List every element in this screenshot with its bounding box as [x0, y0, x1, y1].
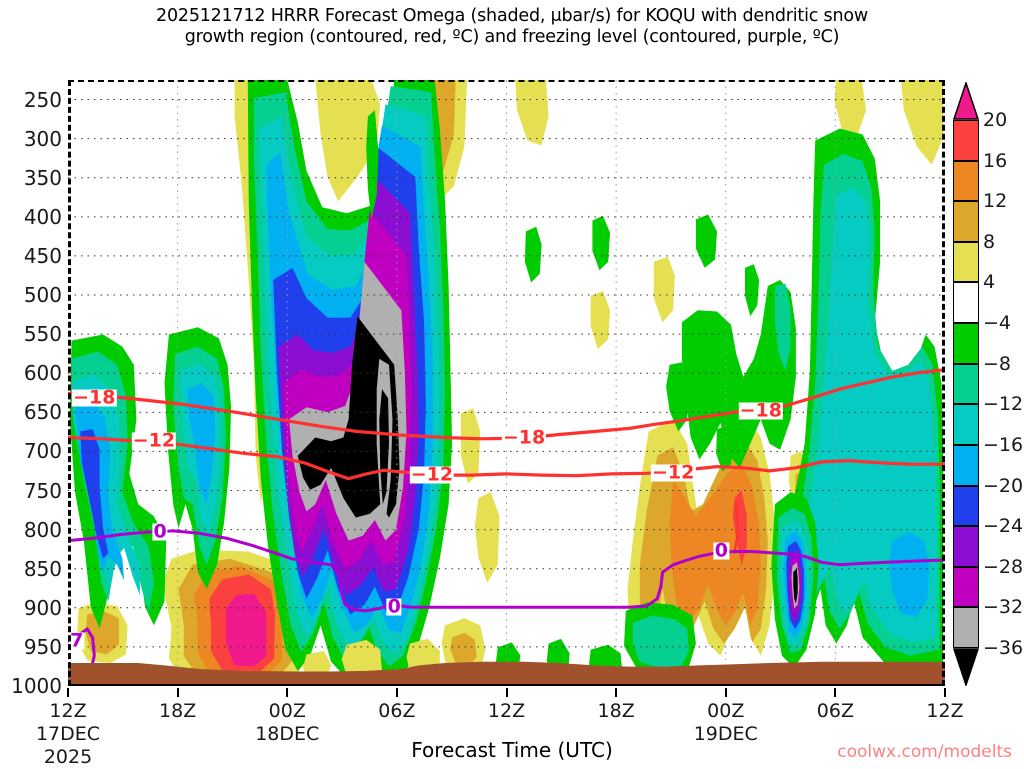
x-axis-tick-label: 12Z	[488, 700, 525, 723]
chart-title-line-2: growth region (contoured, red, ºC) and f…	[0, 27, 1024, 48]
colorbar-segment[interactable]	[953, 364, 979, 405]
omega-contour-band	[226, 594, 266, 667]
omega-shaded-field	[68, 80, 945, 686]
y-axis-tick-label: 350	[24, 166, 62, 190]
y-axis-tick-label: 700	[24, 439, 62, 463]
colorbar-tick-label: 12	[983, 190, 1007, 212]
omega-contour-band	[835, 80, 867, 136]
colorbar-under-arrow	[953, 648, 979, 686]
plot-area: −18−12−18−12−18−120007	[68, 80, 945, 686]
colorbar-over-arrow	[953, 82, 979, 120]
colorbar-tick-label: −32	[983, 596, 1023, 618]
y-axis: 2503003504004505005506006507007508008509…	[0, 80, 62, 686]
omega-contour-band	[475, 492, 500, 583]
contour-inline-label: −12	[651, 464, 695, 481]
contour-inline-label: −18	[502, 430, 546, 447]
x-axis-tick-label: 12Z	[926, 700, 963, 723]
contour-inline-label: 0	[714, 543, 729, 560]
colorbar-segment[interactable]	[953, 567, 979, 608]
colorbar-tick-label: −28	[983, 556, 1023, 578]
colorbar-tick-label: −8	[983, 353, 1011, 375]
contour-inline-label: −12	[410, 467, 454, 484]
x-axis-tick-mark	[834, 688, 836, 697]
colorbar-tick-label: −12	[983, 393, 1023, 415]
colorbar-segment[interactable]	[953, 120, 979, 161]
omega-contour-band	[515, 80, 548, 145]
x-axis-tick-mark	[67, 688, 69, 697]
colorbar-segment[interactable]	[953, 201, 979, 242]
x-axis-tick-label: 06Z	[817, 700, 854, 723]
contour-inline-label: 0	[387, 598, 402, 615]
x-axis-tick-mark	[725, 688, 727, 697]
omega-contour-band	[745, 264, 759, 316]
omega-contour-band	[654, 257, 675, 322]
omega-contour-band	[696, 215, 717, 268]
chart-title: 2025121712 HRRR Forecast Omega (shaded, …	[0, 6, 1024, 48]
y-axis-tick-label: 900	[24, 596, 62, 620]
x-axis-tick-label: 18Z	[598, 700, 635, 723]
colorbar-segment[interactable]	[953, 486, 979, 527]
y-axis-tick-label: 800	[24, 518, 62, 542]
x-axis-tick-mark	[286, 688, 288, 697]
colorbar-tick-label: −24	[983, 515, 1023, 537]
omega-contour-band	[461, 409, 480, 484]
colorbar-tick-label: 16	[983, 150, 1007, 172]
y-axis-tick-label: 850	[24, 557, 62, 581]
colorbar-tick-label: −36	[983, 637, 1023, 659]
omega-contour-band	[592, 216, 610, 271]
colorbar-segment[interactable]	[953, 323, 979, 364]
colorbar-segment[interactable]	[953, 607, 979, 648]
x-axis-tick-mark	[506, 688, 508, 697]
colorbar[interactable]: 20161284−4−8−12−16−20−24−28−32−36	[953, 82, 979, 686]
y-axis-tick-label: 550	[24, 322, 62, 346]
y-axis-tick-label: 300	[24, 127, 62, 151]
x-axis-tick-label: 06Z	[378, 700, 415, 723]
omega-contour-band	[591, 291, 610, 349]
x-axis-tick-label: 18Z	[159, 700, 196, 723]
y-axis-tick-label: 500	[24, 283, 62, 307]
x-axis-tick-mark	[615, 688, 617, 697]
chart-page: 2025121712 HRRR Forecast Omega (shaded, …	[0, 0, 1024, 768]
colorbar-tick-label: −20	[983, 475, 1023, 497]
contour-inline-label: −12	[132, 433, 176, 450]
y-axis-tick-label: 450	[24, 244, 62, 268]
colorbar-tick-label: −16	[983, 434, 1023, 456]
colorbar-segment[interactable]	[953, 445, 979, 486]
colorbar-tick-label: 20	[983, 109, 1007, 131]
contour-inline-label: −18	[739, 403, 783, 420]
contour-inline-label: −18	[72, 390, 116, 407]
chart-title-line-1: 2025121712 HRRR Forecast Omega (shaded, …	[156, 6, 868, 26]
contour-inline-label: 0	[152, 524, 167, 541]
x-axis-tick-mark	[396, 688, 398, 697]
x-axis-tick-mark	[177, 688, 179, 697]
omega-contour-band	[901, 80, 943, 165]
x-axis-tick-mark	[944, 688, 946, 697]
y-axis-tick-label: 250	[24, 88, 62, 112]
colorbar-segment[interactable]	[953, 526, 979, 567]
y-axis-tick-label: 750	[24, 479, 62, 503]
colorbar-tick-label: 4	[983, 271, 995, 293]
y-axis-tick-label: 950	[24, 635, 62, 659]
colorbar-tick-label: −4	[983, 312, 1011, 334]
y-axis-tick-label: 400	[24, 205, 62, 229]
colorbar-segment[interactable]	[953, 242, 979, 283]
colorbar-segment[interactable]	[953, 404, 979, 445]
y-axis-tick-label: 600	[24, 361, 62, 385]
watermark: coolwx.com/modelts	[837, 742, 1012, 762]
colorbar-tick-label: 8	[983, 231, 995, 253]
colorbar-segment[interactable]	[953, 161, 979, 202]
contour-inline-label: 7	[69, 632, 84, 649]
y-axis-tick-label: 650	[24, 400, 62, 424]
omega-contour-band	[525, 227, 542, 283]
colorbar-segment[interactable]	[953, 282, 979, 323]
